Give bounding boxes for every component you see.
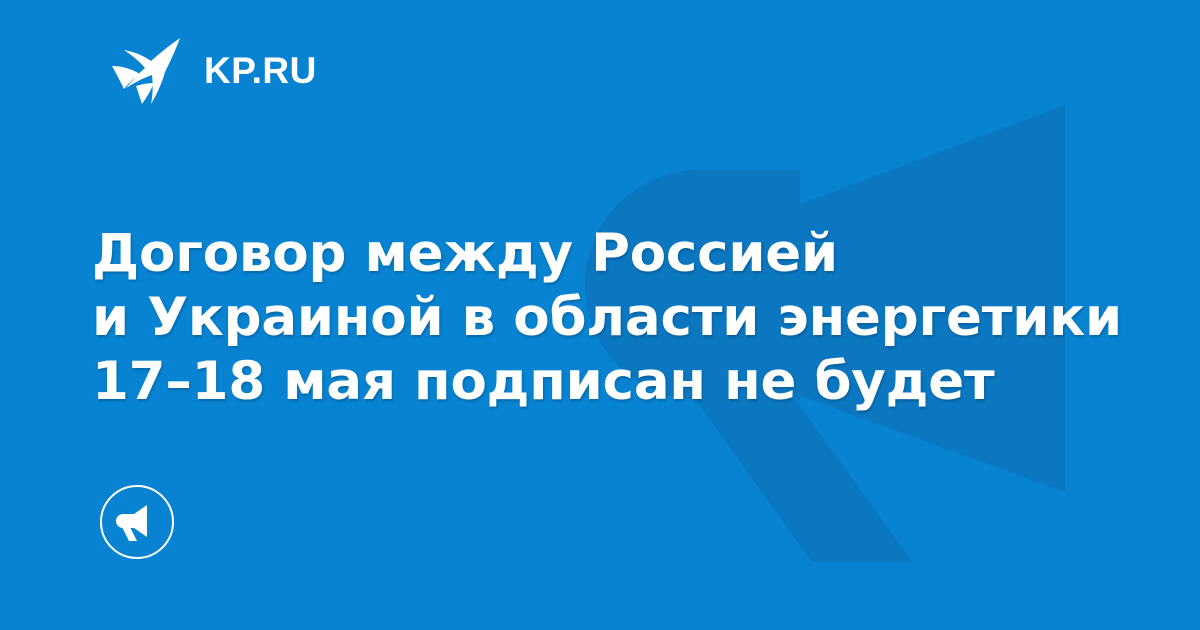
headline-line-2: и Украиной в области энергетики <box>92 286 1122 350</box>
megaphone-badge[interactable] <box>99 484 175 560</box>
social-share-card: KP.RU Договор между Россией и Украиной в… <box>0 0 1200 630</box>
swallow-bird-icon <box>108 36 182 104</box>
megaphone-icon <box>116 505 147 541</box>
brand-logo[interactable]: KP.RU <box>108 36 317 104</box>
brand-wordmark: KP.RU <box>204 52 317 89</box>
page-title: Договор между Россией и Украиной в облас… <box>92 222 1122 414</box>
headline-line-3: 17–18 мая подписан не будет <box>92 350 1122 414</box>
headline-line-1: Договор между Россией <box>92 222 1122 286</box>
